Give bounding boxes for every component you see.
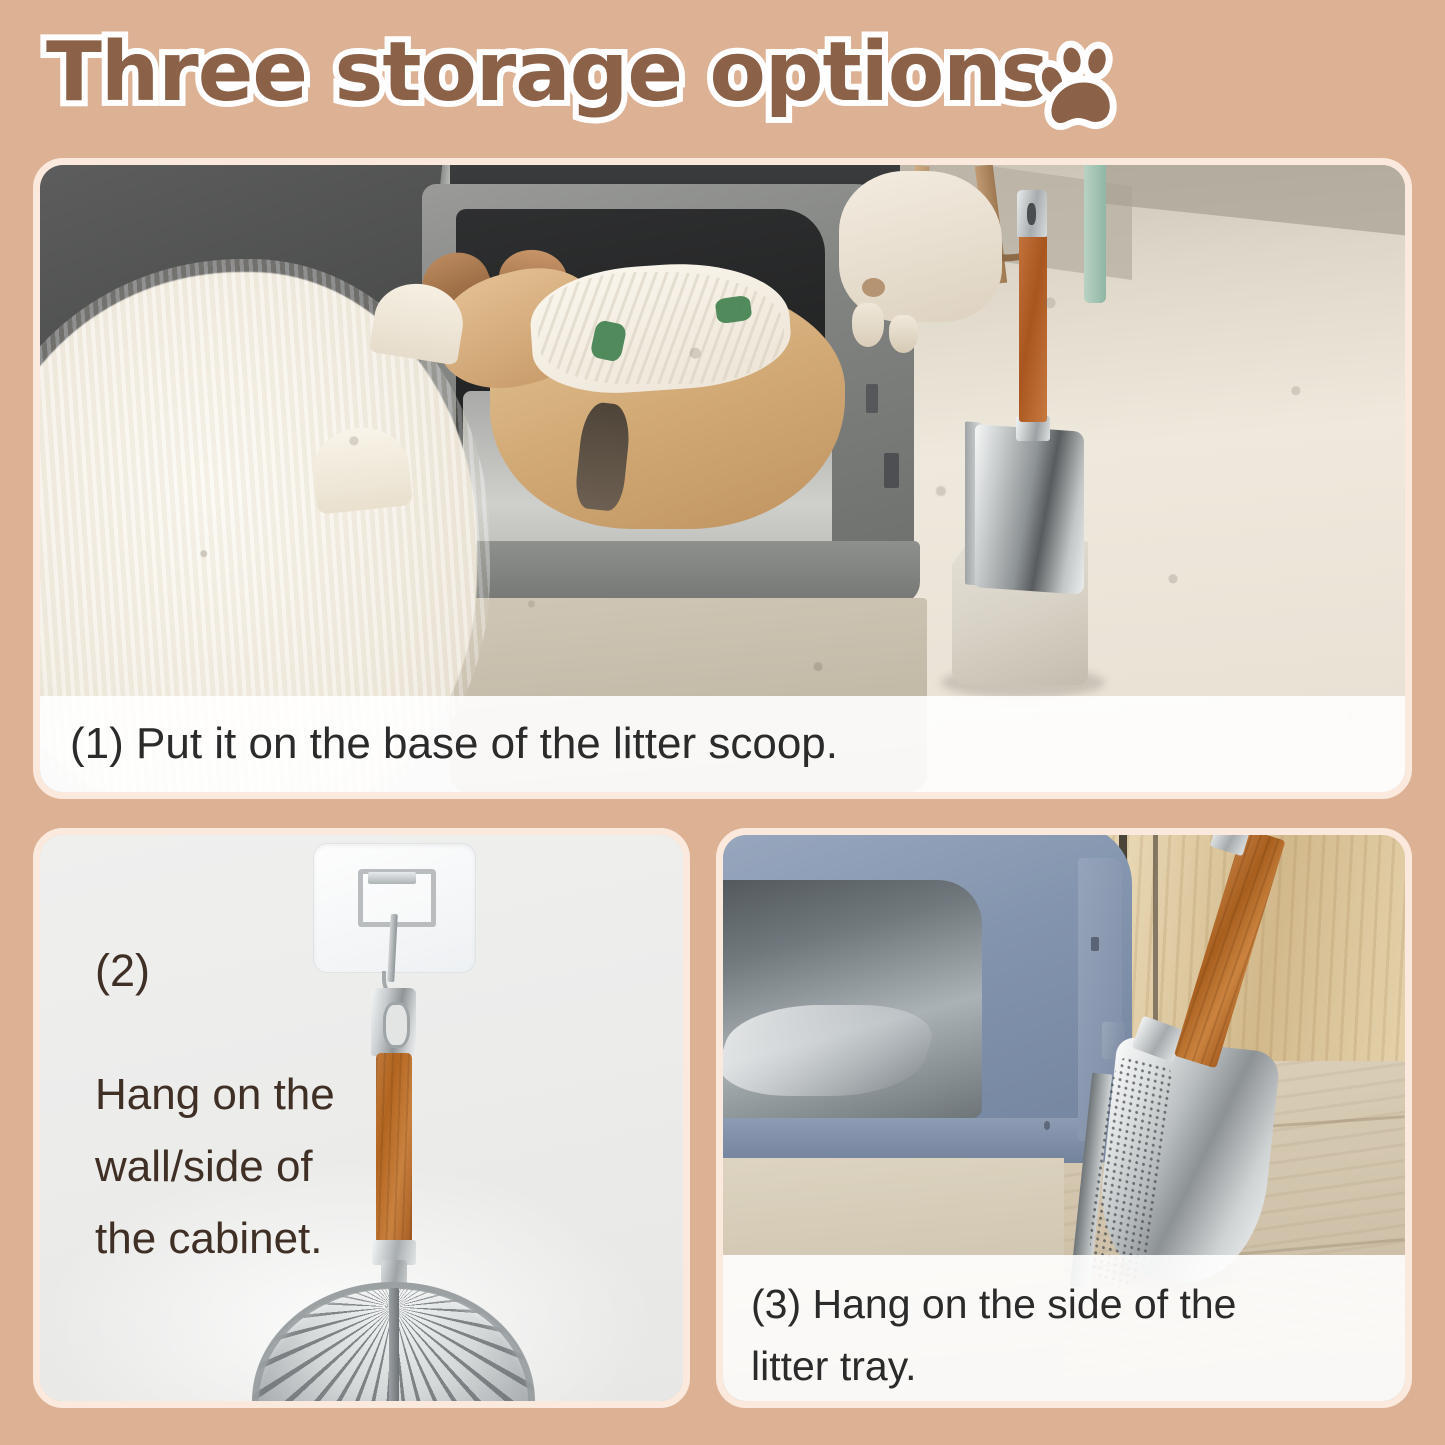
scoop-hang-hole [1027,203,1037,226]
header: Three storage options [0,0,1445,150]
cat-paw [889,315,918,353]
caption-option-3-line-2: litter tray. [751,1343,917,1389]
tray-screw-dot [1044,1121,1051,1130]
caption-option-2-line-1: Hang on the [95,1070,335,1119]
caption-option-2-number: (2) [95,935,375,1007]
litter-box-rim [429,541,920,604]
paw-print-icon [1022,33,1142,133]
litter-scoop-blade [975,425,1084,596]
scoop-wooden-handle [1019,234,1048,422]
caption-option-3: (3) Hang on the side of the litter tray. [723,1255,1405,1401]
storage-option-1-panel: (1) Put it on the base of the litter sco… [33,158,1412,799]
caption-option-1: (1) Put it on the base of the litter sco… [40,696,1405,792]
furniture-leg [1084,165,1106,303]
caption-option-2-line-2: wall/side of [95,1142,313,1191]
scoop-hang-hole [383,1002,410,1048]
litter-tray-rim [723,1118,1119,1163]
caption-option-3-line-1: (3) Hang on the side of the [751,1281,1236,1327]
wood-grain-texture [376,1053,412,1245]
hook-bar [368,872,416,884]
scoop-blade-spine [389,1288,399,1401]
caption-option-2-line-3: the cabinet. [95,1214,323,1263]
litter-box-hinge [866,384,878,412]
page-title: Three storage options [46,25,1048,120]
cat-fur-spot [862,278,885,297]
cat-paw [852,303,883,347]
caption-option-2: (2) Hang on the wall/side of the cabinet… [95,935,375,1275]
storage-option-3-panel: (3) Hang on the side of the litter tray. [716,828,1412,1408]
infographic-page: Three storage options [0,0,1445,1445]
litter-box-hinge [884,453,899,487]
storage-option-2-panel: (2) Hang on the wall/side of the cabinet… [33,828,690,1408]
cat-garment-texture [538,272,784,385]
third-cat [839,171,1003,321]
tray-latch [1091,937,1099,951]
